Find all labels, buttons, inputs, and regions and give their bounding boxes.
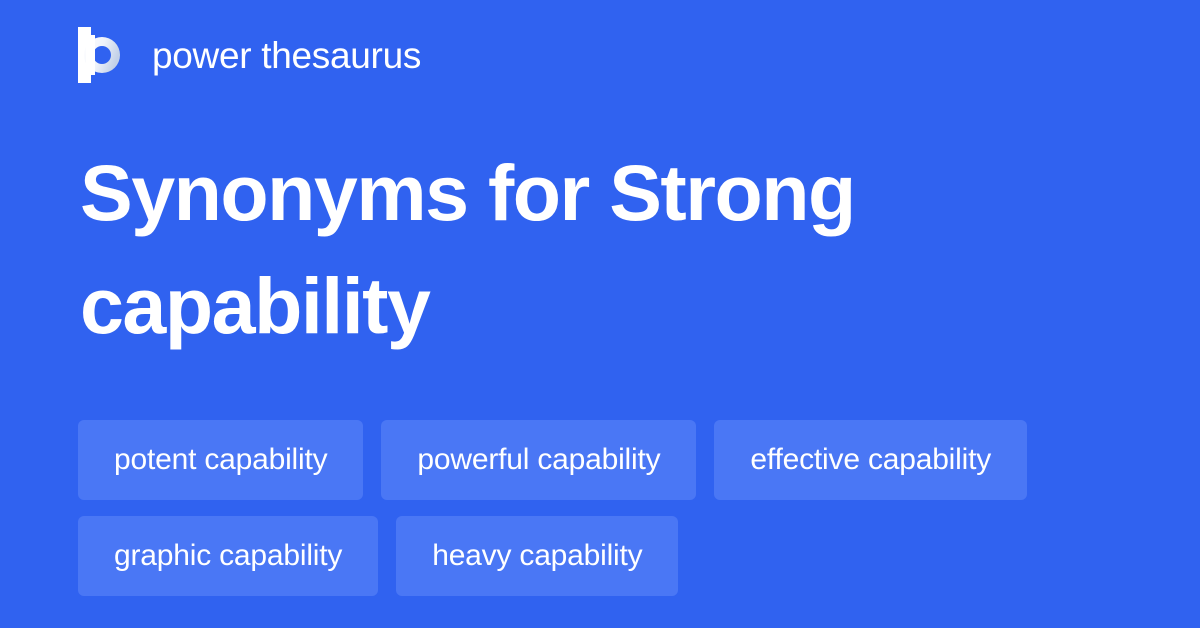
synonym-chip-list: potent capability powerful capability ef… — [78, 420, 1148, 596]
brand-name: power thesaurus — [152, 37, 421, 74]
share-card: power thesaurus Synonyms for Strong capa… — [0, 0, 1200, 628]
brand-logo[interactable]: power thesaurus — [78, 27, 421, 83]
synonym-chip[interactable]: powerful capability — [381, 420, 696, 500]
synonym-chip[interactable]: effective capability — [714, 420, 1027, 500]
synonym-chip[interactable]: graphic capability — [78, 516, 378, 596]
page-title: Synonyms for Strong capability — [80, 136, 1080, 362]
synonym-chip[interactable]: heavy capability — [396, 516, 678, 596]
synonym-chip[interactable]: potent capability — [78, 420, 363, 500]
power-thesaurus-b-logo-icon — [78, 27, 132, 83]
